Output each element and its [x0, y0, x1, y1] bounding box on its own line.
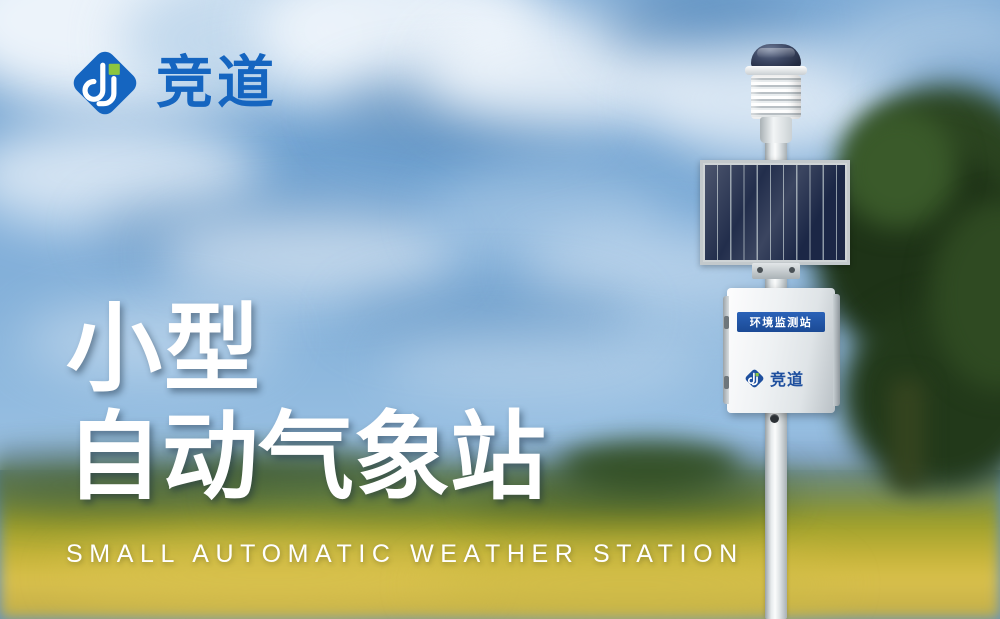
radiation-shield-icon	[751, 75, 801, 119]
enclosure-brand-logo: 竞道	[744, 366, 804, 390]
enclosure-right-edge	[833, 294, 840, 406]
product-hero-banner: 竞道 小型 自动气象站 SMALL AUTOMATIC WEATHER STAT…	[0, 0, 1000, 619]
equipment-enclosure	[727, 288, 835, 413]
sensor-cap	[745, 66, 807, 75]
solar-panel-icon	[700, 160, 850, 265]
sensor-mount-neck	[760, 117, 792, 143]
enclosure-latch-top	[724, 316, 729, 329]
enclosure-jingdao-logo-icon	[744, 368, 765, 389]
solar-panel-bracket	[752, 263, 800, 279]
enclosure-latch-bottom	[724, 376, 729, 389]
pole-bolt	[770, 414, 779, 423]
weather-station-product: 环境监测站 竞道	[0, 0, 1000, 619]
enclosure-banner-label: 环境监测站	[737, 312, 825, 332]
solar-panel-glare	[705, 165, 845, 260]
enclosure-brand-name: 竞道	[770, 366, 804, 390]
